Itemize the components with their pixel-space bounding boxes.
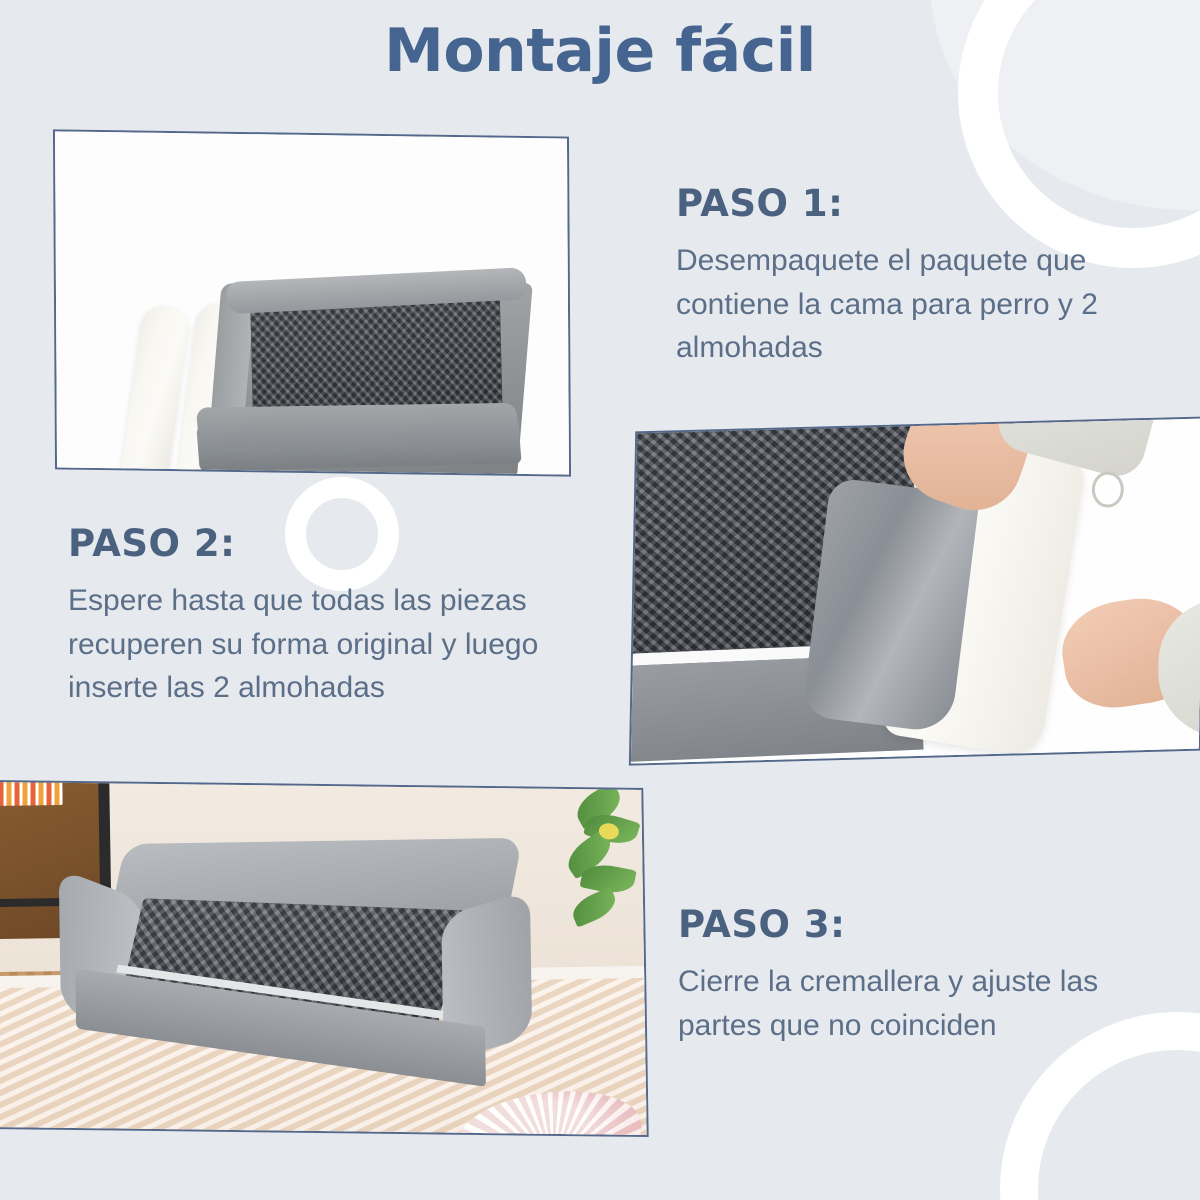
step-3-body: Cierre la cremallera y ajuste las partes… [678,960,1158,1047]
infographic-canvas: Montaje fácil [0,0,1200,1200]
step-1-photo [55,131,569,474]
flat-dog-bed [223,269,540,475]
bed-cover-bottom-fold [196,403,520,448]
step-1-photo-panel [53,129,571,476]
plant-leaf [568,887,620,928]
shelf-books [0,782,63,806]
page-title: Montaje fácil [0,16,1200,86]
house-plant [558,783,647,963]
step-1-body: Desempaquete el paquete que contiene la … [676,239,1146,370]
step-2-photo [631,418,1200,763]
step-2-text-block: PASO 2: Espere hasta que todas las pieza… [68,522,548,710]
cover-flap-lifted [802,477,980,734]
assembled-dog-bed [42,837,570,1096]
step-3-photo-panel [0,780,649,1137]
step-3-title: PASO 3: [678,903,1158,946]
step-3-text-block: PASO 3: Cierre la cremallera y ajuste la… [678,903,1158,1047]
step-1-text-block: PASO 1: Desempaquete el paquete que cont… [676,182,1146,370]
step-2-body: Espere hasta que todas las piezas recupe… [68,579,548,710]
foam-bolster-right-end [167,472,211,474]
step-2-photo-panel [629,416,1200,765]
step-3-photo [0,782,647,1135]
step-2-title: PASO 2: [68,522,548,565]
step-1-title: PASO 1: [676,182,1146,225]
